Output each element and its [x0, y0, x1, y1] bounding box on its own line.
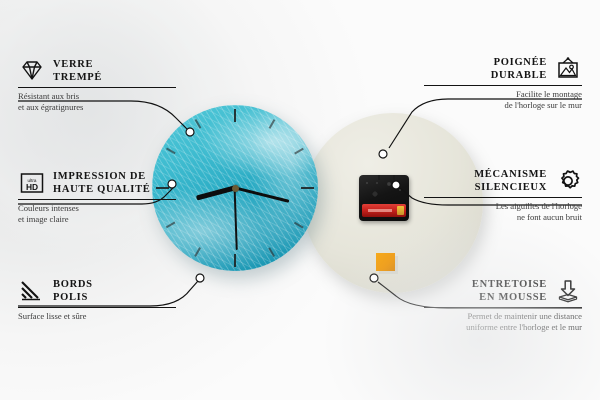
feature-verre-trempe: VERRETREMPÉ Résistant aux bris et aux ég… [18, 58, 176, 114]
feature-description: Surface lisse et sûre [18, 308, 176, 322]
feature-title: POIGNÉEDURABLE [491, 56, 547, 82]
feature-description: Facilite le montage de l'horloge sur le … [424, 86, 582, 111]
feature-mecanisme-silencieux: MÉCANISMESILENCIEUX Les aiguilles de l'h… [424, 168, 582, 224]
clock-center-cap [232, 185, 239, 192]
press-down-icon [554, 278, 582, 304]
feature-header: MÉCANISMESILENCIEUX [424, 168, 582, 197]
polished-edges-icon [18, 278, 46, 304]
clock-mechanism [359, 175, 409, 221]
feature-description: Les aiguilles de l'horloge ne font aucun… [424, 198, 582, 223]
infographic-canvas: VERRETREMPÉ Résistant aux bris et aux ég… [0, 0, 600, 400]
feature-impression-haute-qualite: ultra HD IMPRESSION DEHAUTE QUALITÉ Coul… [18, 170, 176, 226]
clock-tick [234, 109, 236, 122]
feature-header: ENTRETOISEEN MOUSSE [424, 278, 582, 307]
hanging-picture-icon [554, 56, 582, 82]
clock-face [152, 105, 318, 271]
foam-spacer [376, 253, 395, 271]
battery [362, 204, 406, 217]
feature-header: BORDSPOLIS [18, 278, 176, 307]
svg-text:HD: HD [26, 182, 38, 192]
clock-tick [301, 187, 314, 189]
diamond-icon [18, 58, 46, 84]
feature-title: IMPRESSION DEHAUTE QUALITÉ [53, 170, 151, 196]
mechanism-details [363, 180, 405, 200]
feature-description: Résistant aux bris et aux égratignures [18, 88, 176, 113]
connector-dot-bords [196, 274, 204, 282]
feature-header: ultra HD IMPRESSION DEHAUTE QUALITÉ [18, 170, 176, 199]
feature-title: MÉCANISMESILENCIEUX [474, 168, 547, 194]
feature-title: BORDSPOLIS [53, 278, 93, 304]
feature-description: Permet de maintenir une distance uniform… [424, 308, 582, 333]
gear-icon [554, 168, 582, 194]
feature-header: POIGNÉEDURABLE [424, 56, 582, 85]
feature-description: Couleurs intenses et image claire [18, 200, 176, 225]
ultra-hd-icon: ultra HD [18, 170, 46, 196]
feature-title: VERRETREMPÉ [53, 58, 102, 84]
feature-header: VERRETREMPÉ [18, 58, 176, 87]
feature-entretoise-en-mousse: ENTRETOISEEN MOUSSE Permet de maintenir … [424, 278, 582, 334]
feature-poignee-durable: POIGNÉEDURABLE Facilite le montage de l'… [424, 56, 582, 112]
feature-title: ENTRETOISEEN MOUSSE [472, 278, 547, 304]
clock-tick [234, 254, 236, 267]
feature-bords-polis: BORDSPOLIS Surface lisse et sûre [18, 278, 176, 322]
